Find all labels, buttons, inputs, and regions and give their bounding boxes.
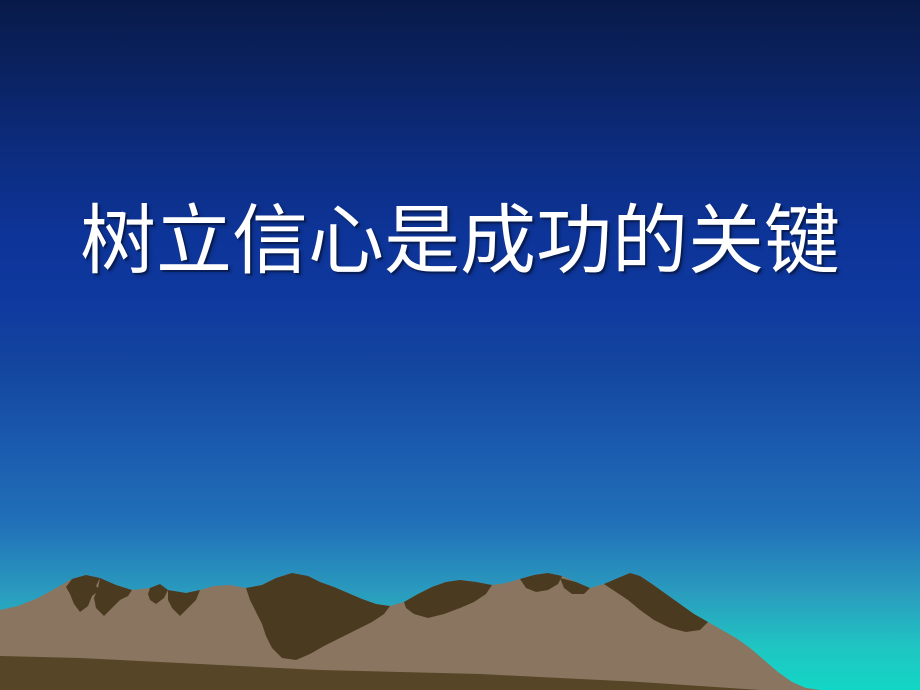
mountain-range-silhouette xyxy=(0,560,920,690)
presentation-slide: 树立信心是成功的关键 xyxy=(0,0,920,690)
